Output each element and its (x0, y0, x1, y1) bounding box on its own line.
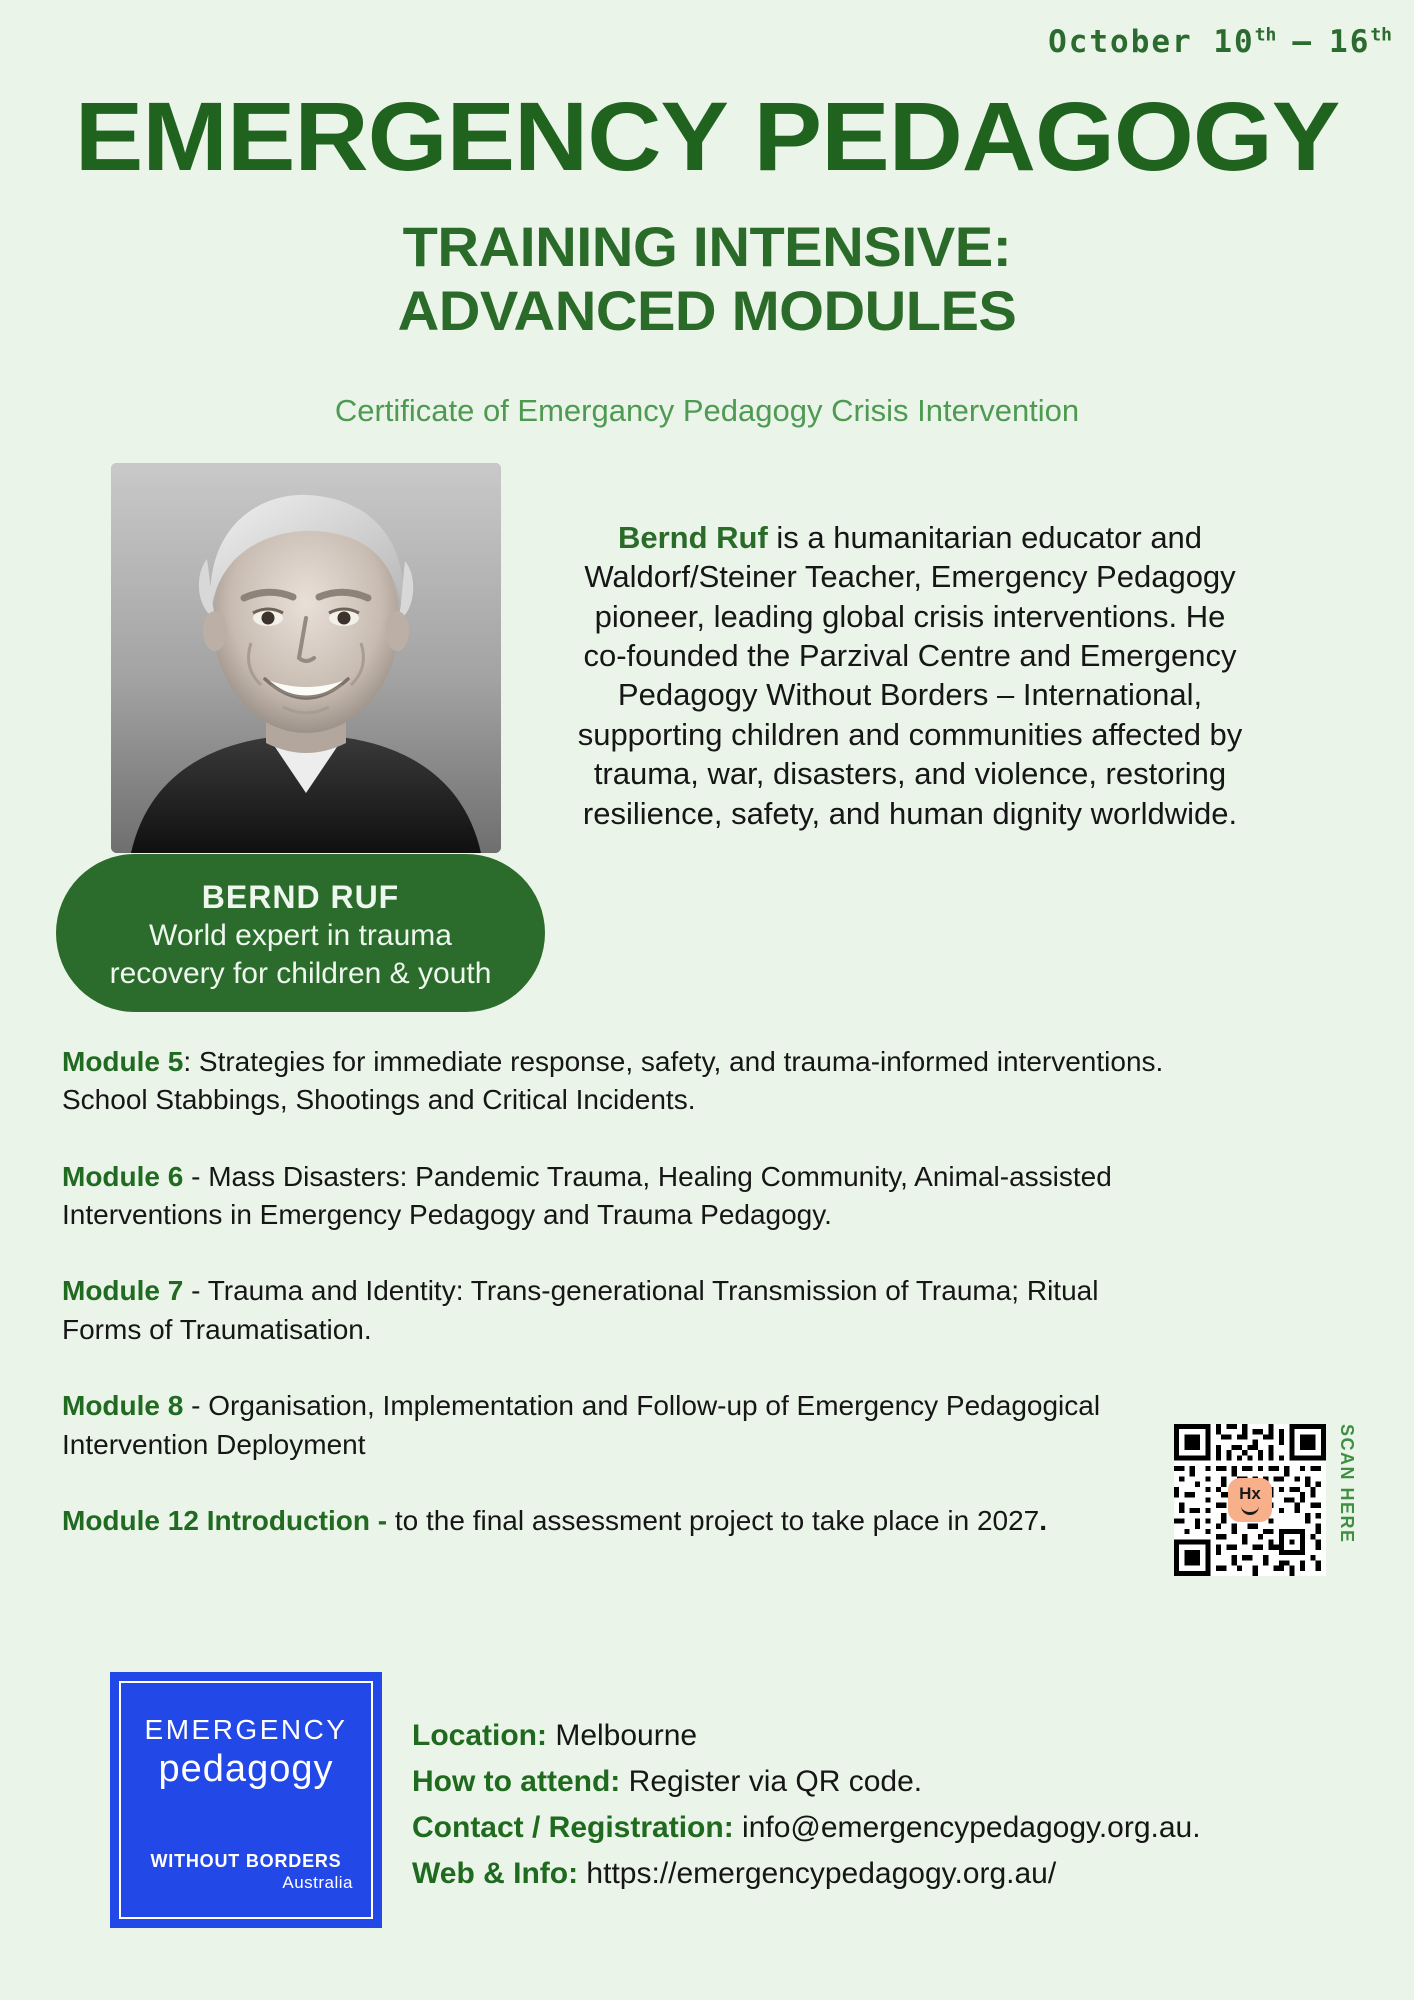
contact-row-location: Location: Melbourne (412, 1713, 1312, 1759)
subtitle-line-2: ADVANCED MODULES (0, 279, 1414, 343)
contact-row-how-to-attend: How to attend: Register via QR code. (412, 1759, 1312, 1805)
module-text: - Mass Disasters: Pandemic Trauma, Heali… (62, 1161, 1112, 1230)
qr-center-logo: Hx (1228, 1478, 1272, 1522)
contact-value-email[interactable]: info@emergencypedagogy.org.au. (734, 1811, 1201, 1844)
module-text: to the final assessment project to take … (387, 1505, 1039, 1536)
logo-line-without-borders: WITHOUT BORDERS (151, 1851, 342, 1872)
contact-label: Web & Info: (412, 1857, 578, 1890)
poster-root: October 10th–16th EMERGENCY PEDAGOGY TRA… (0, 0, 1414, 2000)
organisation-logo: EMERGENCY pedagogy WITHOUT BORDERS Austr… (110, 1672, 382, 1928)
speaker-badge-desc-2: recovery for children & youth (56, 955, 545, 993)
module-label: Module 6 (62, 1161, 183, 1192)
date-end: 16 (1329, 24, 1370, 60)
logo-frame: EMERGENCY pedagogy WITHOUT BORDERS Austr… (119, 1681, 373, 1919)
contact-value: Register via QR code. (620, 1765, 922, 1798)
contact-label: How to attend: (412, 1765, 620, 1798)
event-date: October 10th–16th (1048, 24, 1392, 60)
module-label: Module 5 (62, 1046, 183, 1077)
module-text: - Trauma and Identity: Trans-generationa… (62, 1275, 1098, 1344)
speaker-bio-name: Bernd Ruf (618, 520, 768, 555)
date-start-suffix: th (1255, 25, 1277, 46)
contact-value-url[interactable]: https://emergencypedagogy.org.au/ (578, 1857, 1056, 1890)
certificate-label: Certificate of Emergancy Pedagogy Crisis… (0, 393, 1414, 429)
speaker-bio: Bernd Ruf is a humanitarian educator and… (570, 518, 1250, 833)
contact-block: Location: Melbourne How to attend: Regis… (412, 1713, 1312, 1897)
module-text: - Organisation, Implementation and Follo… (62, 1390, 1100, 1459)
module-label: Module 12 Introduction - (62, 1505, 387, 1536)
page-subtitle: TRAINING INTENSIVE: ADVANCED MODULES (0, 215, 1414, 344)
speaker-bio-text: is a humanitarian educator and Waldorf/S… (578, 520, 1243, 831)
date-start: 10 (1213, 24, 1254, 60)
module-text-tail: . (1039, 1505, 1047, 1536)
contact-label: Location: (412, 1719, 547, 1752)
contact-value: Melbourne (547, 1719, 697, 1752)
module-label: Module 7 (62, 1275, 183, 1306)
module-item: Module 8 - Organisation, Implementation … (62, 1387, 1182, 1464)
module-item: Module 6 - Mass Disasters: Pandemic Trau… (62, 1158, 1182, 1235)
page-title: EMERGENCY PEDAGOGY (0, 88, 1414, 185)
date-separator: – (1276, 24, 1329, 60)
date-end-suffix: th (1370, 25, 1392, 46)
smile-icon (1241, 1505, 1259, 1515)
speaker-portrait (111, 463, 501, 853)
logo-line-pedagogy: pedagogy (159, 1748, 334, 1792)
module-label: Module 8 (62, 1390, 183, 1421)
speaker-badge-name: BERND RUF (56, 877, 545, 917)
scan-here-label: SCAN HERE (1336, 1424, 1357, 1576)
module-item: Module 12 Introduction - to the final as… (62, 1502, 1182, 1540)
logo-line-emergency: EMERGENCY (145, 1715, 348, 1746)
module-item: Module 7 - Trauma and Identity: Trans-ge… (62, 1272, 1182, 1349)
subtitle-line-1: TRAINING INTENSIVE: (403, 215, 1012, 278)
speaker-badge-desc-1: World expert in trauma (56, 917, 545, 955)
qr-center-text: Hx (1239, 1485, 1261, 1502)
contact-row-web: Web & Info: https://emergencypedagogy.or… (412, 1851, 1312, 1897)
contact-label: Contact / Registration: (412, 1811, 734, 1844)
module-text: : Strategies for immediate response, saf… (62, 1046, 1163, 1115)
portrait-graphic (111, 463, 501, 853)
module-list: Module 5: Strategies for immediate respo… (62, 1043, 1182, 1540)
speaker-badge: BERND RUF World expert in trauma recover… (56, 854, 545, 1012)
date-month: October (1048, 24, 1193, 60)
qr-code[interactable]: Hx (1174, 1424, 1326, 1576)
module-item: Module 5: Strategies for immediate respo… (62, 1043, 1182, 1120)
contact-row-registration: Contact / Registration: info@emergencype… (412, 1805, 1312, 1851)
logo-line-australia: Australia (282, 1873, 371, 1893)
